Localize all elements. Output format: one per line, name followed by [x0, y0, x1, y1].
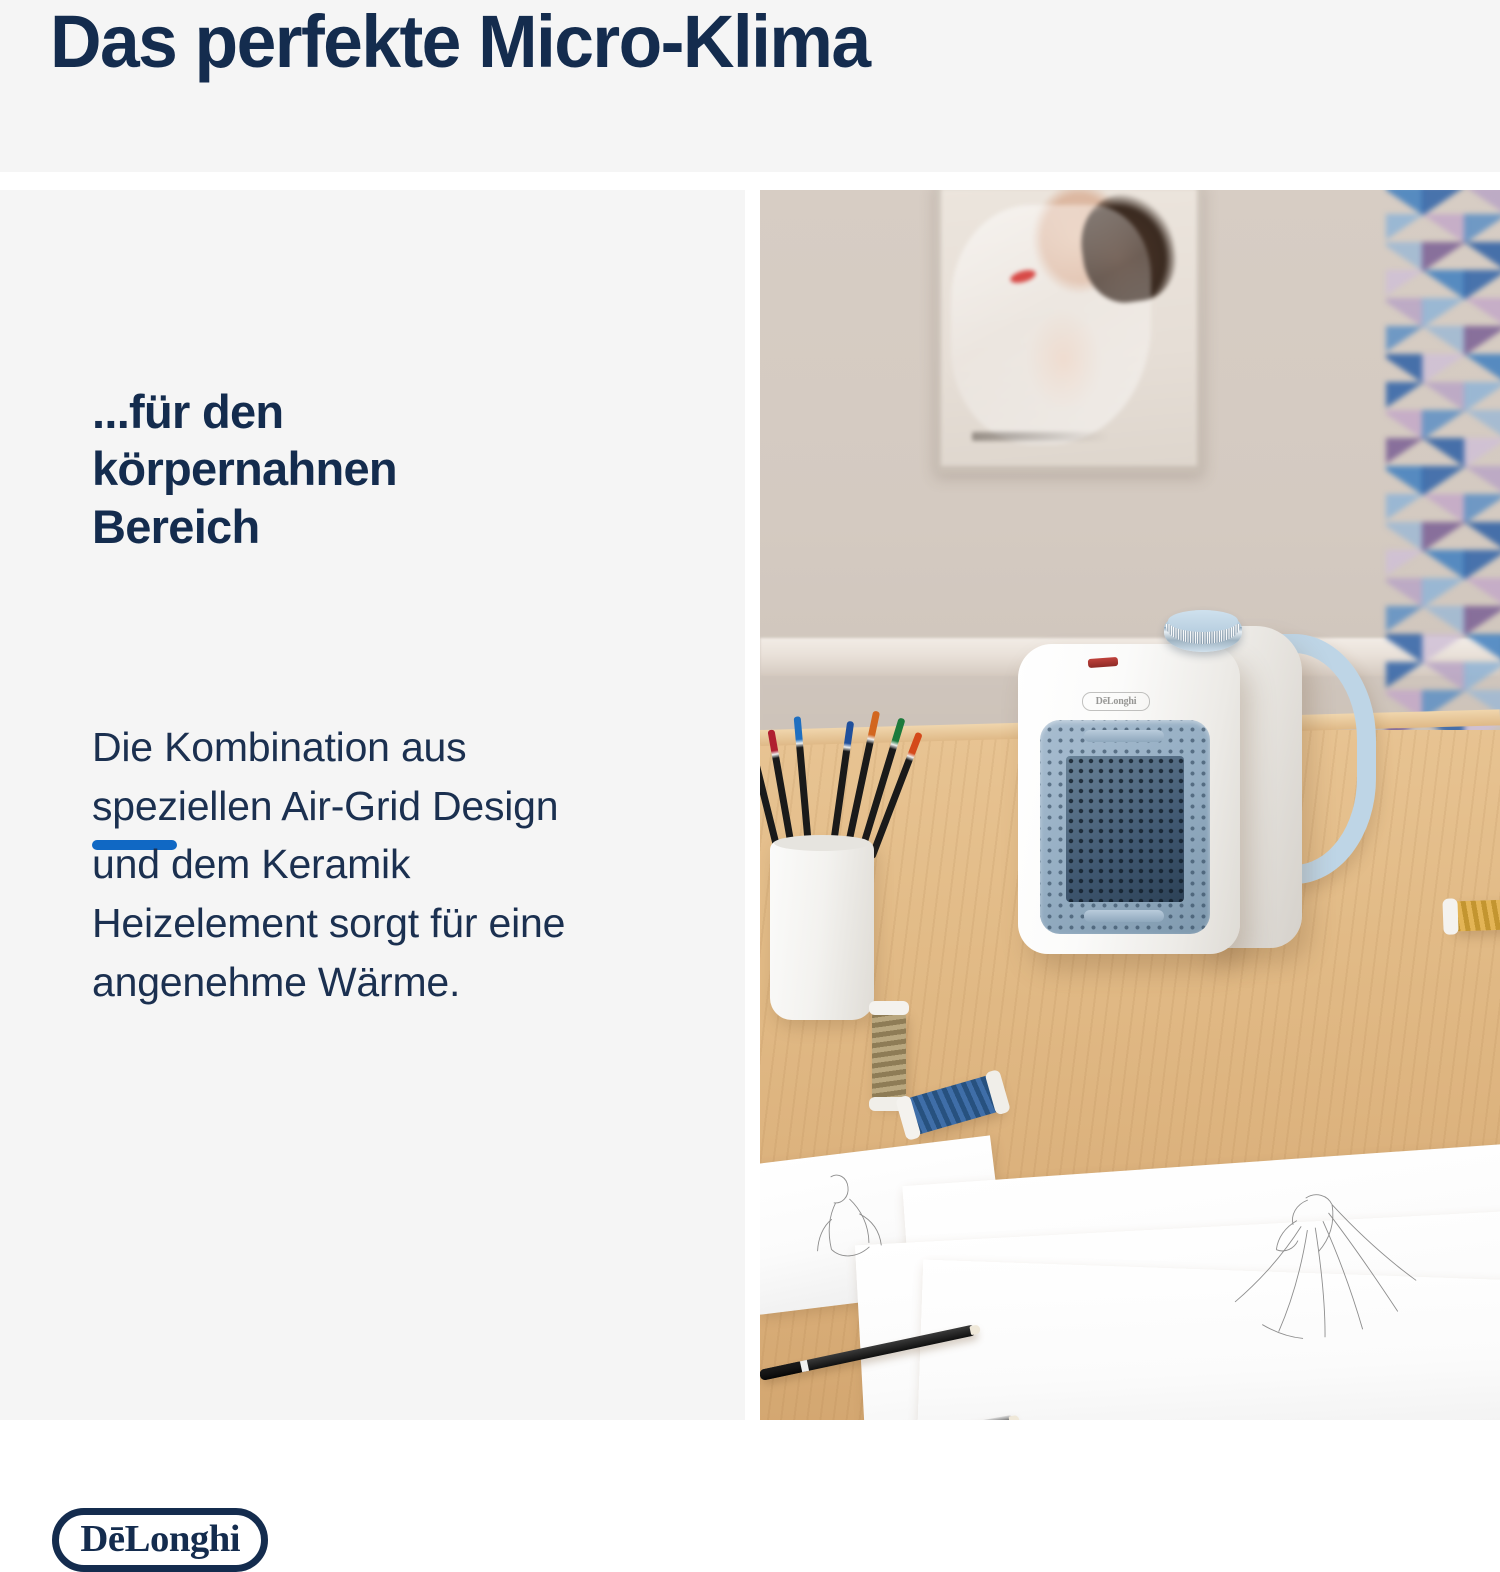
curtain-facet [1386, 298, 1424, 328]
curtain-facet [1464, 354, 1500, 384]
curtain-facet [1464, 466, 1500, 496]
curtain-facet [1464, 382, 1500, 412]
curtain-facet [1464, 326, 1500, 356]
curtain-facet [1422, 382, 1466, 412]
product-photo: DēLonghi [760, 190, 1500, 1420]
curtain-facet [1464, 634, 1500, 664]
curtain-facet [1464, 438, 1500, 468]
curtain-facet [1422, 662, 1466, 692]
subheading: ...für den körpernahnen Bereich [92, 383, 562, 555]
curtain-facet [1422, 550, 1466, 580]
portrait-veil [951, 205, 1151, 444]
curtain-facet [1386, 326, 1424, 356]
curtain-facet [1422, 270, 1466, 300]
curtain-facet [1422, 522, 1466, 552]
curtain-facet [1464, 606, 1500, 636]
curtain-facet [1422, 410, 1466, 440]
curtain-facet [1386, 382, 1424, 412]
curtain-facet [1386, 634, 1424, 664]
curtain-facet [1464, 190, 1500, 216]
curtain-facet [1422, 298, 1466, 328]
fashion-sketch-large [1155, 1182, 1464, 1377]
body-paragraph: Die Kombination aus speziellen Air-Grid … [92, 718, 602, 1011]
curtain-facet [1386, 242, 1424, 272]
header-band: Das perfekte Micro-Klima [0, 0, 1500, 172]
curtain-facet [1386, 190, 1424, 216]
curtain-facet [1422, 242, 1466, 272]
framed-picture [935, 190, 1203, 474]
curtain-facet [1422, 190, 1466, 216]
curtain-facet [1386, 662, 1424, 692]
curtain-facet [1386, 214, 1424, 244]
thread-spool-tan [872, 1008, 906, 1104]
curtain-facet [1464, 214, 1500, 244]
curtain-facet [1422, 494, 1466, 524]
power-switch-indicator[interactable] [1088, 657, 1119, 668]
curtain-facet [1386, 522, 1424, 552]
page-title: Das perfekte Micro-Klima [50, 0, 869, 85]
curtain-facet [1422, 578, 1466, 608]
curtain-facet [1386, 270, 1424, 300]
curtain-facet [1422, 214, 1466, 244]
thread-spool-yellow [1450, 898, 1500, 931]
text-panel: ...für den körpernahnen Bereich Die Komb… [0, 190, 745, 1420]
fashion-sketch-small [774, 1157, 926, 1283]
air-grid-slot-top [1084, 730, 1164, 742]
curtain-facet [1386, 438, 1424, 468]
heater-front-body: DēLonghi [1018, 644, 1240, 954]
knob-top-face [1168, 610, 1238, 632]
curtain-facet [1464, 662, 1500, 692]
portrait-caption [972, 432, 1110, 441]
air-grid-panel [1040, 720, 1210, 934]
heater-product: DēLonghi [1018, 608, 1318, 958]
control-knob[interactable] [1164, 610, 1242, 652]
curtain-facet [1464, 298, 1500, 328]
air-grid-slot-bottom [1084, 910, 1164, 922]
curtain-facet [1422, 466, 1466, 496]
promo-page: Das perfekte Micro-Klima ...für den körp… [0, 0, 1500, 1420]
curtain-facet [1464, 522, 1500, 552]
delonghi-logo-text: DēLonghi [80, 1520, 240, 1558]
curtain-facet [1422, 354, 1466, 384]
curtain-facet [1386, 550, 1424, 580]
curtain-facet [1464, 494, 1500, 524]
curtain-facet [1386, 578, 1424, 608]
air-grid-core [1066, 756, 1184, 902]
pen-cup [770, 840, 874, 1020]
curtain-facet [1422, 606, 1466, 636]
curtain-facet [1386, 494, 1424, 524]
curtain-facet [1386, 606, 1424, 636]
curtain-facet [1464, 242, 1500, 272]
curtain-facet [1464, 550, 1500, 580]
curtain-facet [1422, 438, 1466, 468]
portrait-image [941, 190, 1197, 466]
delonghi-logo: DēLonghi [52, 1508, 268, 1572]
curtain-facet [1386, 466, 1424, 496]
curtain-facet [1386, 354, 1424, 384]
curtain-facet [1464, 410, 1500, 440]
curtain-facet [1386, 410, 1424, 440]
curtain-facet [1464, 578, 1500, 608]
curtain-facet [1464, 270, 1500, 300]
product-brand-badge: DēLonghi [1082, 692, 1150, 711]
curtain-facet [1422, 326, 1466, 356]
curtain-facet [1422, 634, 1466, 664]
patterned-curtain [1386, 190, 1500, 766]
